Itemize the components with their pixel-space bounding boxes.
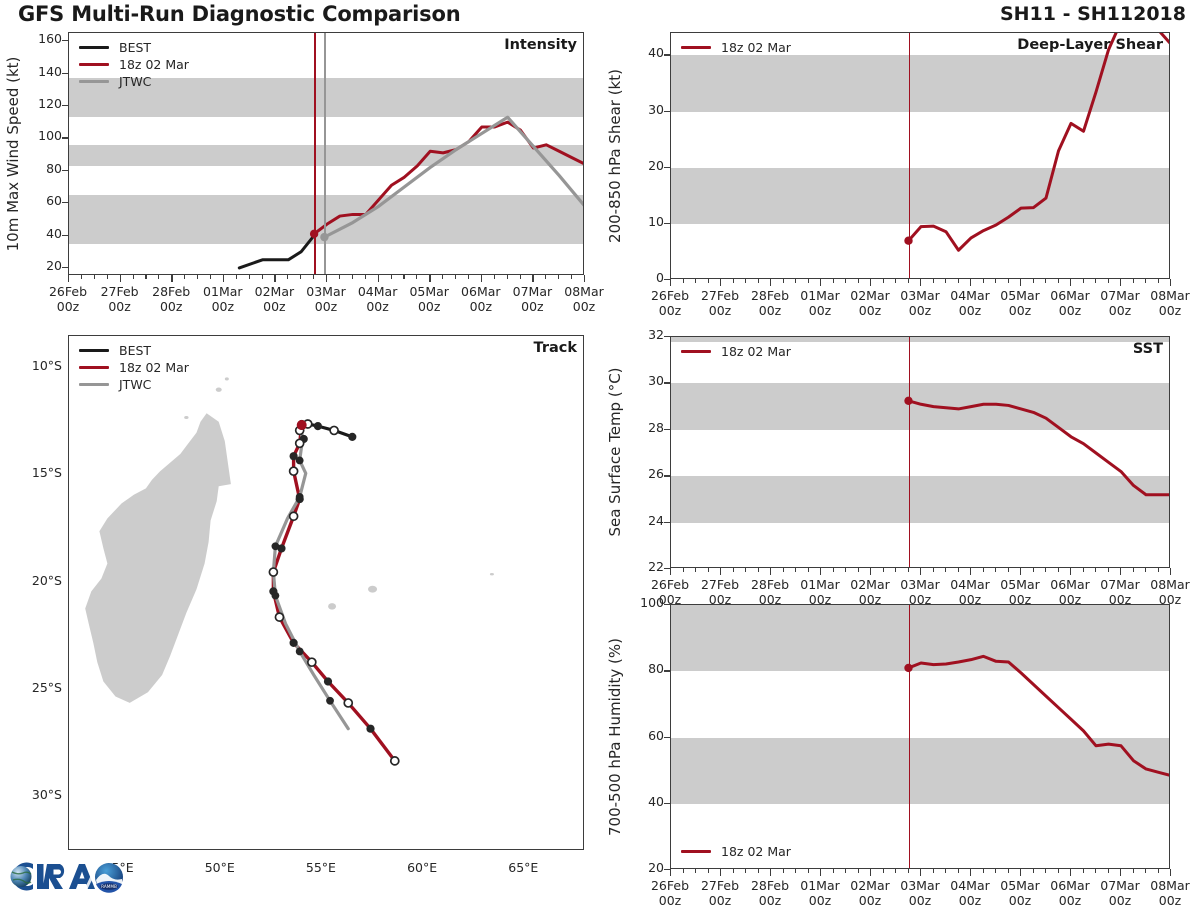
legend-label: 18z 02 Mar — [721, 40, 791, 55]
x-tick-mark — [1120, 869, 1121, 876]
x-minor-tick — [995, 279, 996, 283]
x-minor-tick — [133, 275, 134, 279]
y-tick-mark — [62, 170, 68, 171]
island-shape — [490, 573, 494, 575]
x-minor-tick — [1008, 568, 1009, 572]
track-point-00z — [324, 677, 332, 685]
lat-tick-label: 30°S — [6, 787, 62, 802]
chart-legend: 18z 02 Mar — [681, 39, 791, 56]
x-minor-tick — [416, 275, 417, 279]
y-tick-label: 20 — [26, 258, 62, 273]
x-tick-mark — [920, 869, 921, 876]
x-minor-tick — [520, 275, 521, 279]
chart-legend: BEST18z 02 MarJTWC — [79, 342, 189, 393]
y-tick-mark — [62, 40, 68, 41]
x-minor-tick — [1095, 869, 1096, 873]
track-point-jtwc — [296, 648, 304, 656]
x-tick-mark — [1070, 279, 1071, 286]
y-tick-label: 40 — [628, 794, 664, 809]
legend-color-swatch — [79, 80, 109, 84]
x-minor-tick — [883, 279, 884, 283]
x-minor-tick — [983, 279, 984, 283]
x-minor-tick — [833, 568, 834, 572]
x-tick-mark — [970, 568, 971, 575]
x-minor-tick — [300, 275, 301, 279]
track-line-jtwc — [273, 426, 348, 729]
y-tick-label: 26 — [628, 466, 664, 481]
x-minor-tick — [758, 568, 759, 572]
x-minor-tick — [745, 869, 746, 873]
cira-logo: RAMMB — [6, 856, 124, 898]
page-title: GFS Multi-Run Diagnostic Comparison — [18, 2, 460, 26]
legend-label: 18z 02 Mar — [119, 57, 189, 72]
init-time-vline — [909, 337, 911, 567]
y-tick-mark — [62, 137, 68, 138]
x-minor-tick — [1058, 568, 1059, 572]
y-tick-mark — [664, 223, 670, 224]
x-minor-tick — [708, 568, 709, 572]
x-minor-tick — [858, 869, 859, 873]
island-shape — [225, 377, 229, 380]
track-point-12z — [290, 512, 298, 520]
x-minor-tick — [933, 869, 934, 873]
track-map-plot — [69, 336, 584, 850]
x-minor-tick — [858, 568, 859, 572]
y-axis-label: 200-850 hPa Shear (kt) — [606, 69, 624, 243]
x-minor-tick — [262, 275, 263, 279]
x-tick-mark — [820, 869, 821, 876]
y-tick-label: 20 — [628, 860, 664, 875]
y-tick-label: 30 — [628, 373, 664, 388]
x-minor-tick — [883, 568, 884, 572]
x-minor-tick — [808, 279, 809, 283]
x-minor-tick — [845, 869, 846, 873]
x-tick-label: 08Mar00z — [1140, 577, 1200, 607]
x-minor-tick — [895, 869, 896, 873]
series-line-18z-02-mar — [314, 122, 584, 234]
panel-track: TrackBEST18z 02 MarJTWC — [68, 335, 584, 850]
current-position-marker — [297, 420, 307, 430]
x-minor-tick — [1158, 568, 1159, 572]
x-tick-mark — [970, 869, 971, 876]
track-point-jtwc — [272, 542, 280, 550]
y-axis-label: Sea Surface Temp (°C) — [606, 367, 624, 536]
y-axis-label: 10m Max Wind Speed (kt) — [4, 56, 22, 251]
x-tick-mark — [670, 279, 671, 286]
track-point-12z — [330, 426, 338, 434]
x-minor-tick — [1033, 568, 1034, 572]
y-tick-label: 100 — [26, 128, 62, 143]
x-minor-tick — [558, 275, 559, 279]
track-point-00z — [290, 639, 298, 647]
x-minor-tick — [833, 869, 834, 873]
y-tick-mark — [62, 267, 68, 268]
x-tick-mark — [1070, 568, 1071, 575]
x-minor-tick — [1008, 279, 1009, 283]
legend-color-swatch — [79, 63, 109, 67]
island-shape — [216, 387, 222, 391]
x-tick-mark — [720, 279, 721, 286]
y-tick-label: 32 — [628, 327, 664, 342]
x-minor-tick — [352, 275, 353, 279]
x-minor-tick — [184, 275, 185, 279]
track-point-jtwc — [326, 697, 334, 705]
svg-text:RAMMB: RAMMB — [101, 884, 117, 889]
x-minor-tick — [1145, 568, 1146, 572]
x-minor-tick — [1083, 568, 1084, 572]
x-tick-mark — [378, 275, 379, 282]
x-minor-tick — [945, 279, 946, 283]
x-minor-tick — [81, 275, 82, 279]
x-minor-tick — [94, 275, 95, 279]
x-minor-tick — [733, 568, 734, 572]
x-tick-mark — [1170, 568, 1171, 575]
y-tick-label: 22 — [628, 559, 664, 574]
legend-color-swatch — [79, 349, 109, 353]
x-minor-tick — [455, 275, 456, 279]
legend-label: JTWC — [119, 74, 151, 89]
x-minor-tick — [983, 568, 984, 572]
x-tick-mark — [171, 275, 172, 282]
series-line-18z-02-mar — [909, 656, 1171, 775]
track-point-12z — [391, 757, 399, 765]
x-minor-tick — [1058, 869, 1059, 873]
init-time-vline — [314, 33, 316, 274]
x-minor-tick — [795, 279, 796, 283]
x-minor-tick — [783, 279, 784, 283]
series-line-18z-02-mar — [909, 401, 1171, 495]
y-tick-label: 140 — [26, 64, 62, 79]
island-shape — [368, 586, 377, 593]
jtwc-time-vline — [324, 33, 326, 274]
chart-legend: 18z 02 Mar — [681, 343, 791, 360]
track-point-jtwc — [272, 592, 280, 600]
legend-item: 18z 02 Mar — [79, 56, 189, 73]
x-tick-mark — [1020, 279, 1021, 286]
y-tick-mark — [664, 803, 670, 804]
x-minor-tick — [1083, 869, 1084, 873]
x-tick-mark — [120, 275, 121, 282]
lon-tick-label: 65°E — [489, 860, 557, 875]
x-tick-mark — [670, 568, 671, 575]
x-minor-tick — [708, 869, 709, 873]
x-minor-tick — [833, 279, 834, 283]
x-tick-mark — [1170, 869, 1171, 876]
x-minor-tick — [995, 568, 996, 572]
x-minor-tick — [1033, 279, 1034, 283]
x-minor-tick — [158, 275, 159, 279]
series-plot — [671, 605, 1170, 869]
x-minor-tick — [1095, 279, 1096, 283]
y-tick-mark — [664, 54, 670, 55]
x-minor-tick — [107, 275, 108, 279]
x-minor-tick — [1108, 568, 1109, 572]
x-minor-tick — [442, 275, 443, 279]
x-tick-mark — [1170, 279, 1171, 286]
y-tick-label: 24 — [628, 513, 664, 528]
x-minor-tick — [145, 275, 146, 279]
legend-item: BEST — [79, 342, 189, 359]
init-time-vline — [909, 33, 911, 278]
init-time-vline — [909, 605, 911, 868]
lat-tick-label: 20°S — [6, 573, 62, 588]
y-tick-label: 40 — [628, 45, 664, 60]
madagascar-landmass — [85, 413, 231, 703]
x-tick-label: 08Mar00z — [1140, 288, 1200, 318]
lon-tick-label: 55°E — [287, 860, 355, 875]
x-minor-tick — [1133, 279, 1134, 283]
x-minor-tick — [1108, 869, 1109, 873]
x-minor-tick — [745, 568, 746, 572]
x-minor-tick — [1008, 869, 1009, 873]
x-minor-tick — [908, 279, 909, 283]
y-tick-label: 120 — [26, 96, 62, 111]
x-minor-tick — [808, 568, 809, 572]
y-tick-mark — [664, 670, 670, 671]
x-minor-tick — [339, 275, 340, 279]
y-tick-label: 20 — [628, 158, 664, 173]
y-tick-label: 160 — [26, 31, 62, 46]
y-tick-mark — [664, 167, 670, 168]
y-tick-label: 40 — [26, 226, 62, 241]
y-tick-mark — [664, 604, 670, 605]
track-point-12z — [275, 613, 283, 621]
x-minor-tick — [683, 279, 684, 283]
y-tick-mark — [664, 475, 670, 476]
x-minor-tick — [695, 279, 696, 283]
x-minor-tick — [933, 568, 934, 572]
x-tick-mark — [223, 275, 224, 282]
legend-item: 18z 02 Mar — [79, 359, 189, 376]
y-tick-label: 60 — [26, 193, 62, 208]
x-minor-tick — [210, 275, 211, 279]
legend-label: 18z 02 Mar — [721, 344, 791, 359]
y-tick-label: 28 — [628, 420, 664, 435]
x-minor-tick — [391, 275, 392, 279]
x-minor-tick — [695, 568, 696, 572]
storm-id-title: SH11 - SH112018 — [1000, 3, 1186, 25]
x-tick-mark — [481, 275, 482, 282]
x-tick-label: 08Mar00z — [1140, 878, 1200, 908]
x-minor-tick — [1083, 279, 1084, 283]
chart-legend: 18z 02 Mar — [681, 843, 791, 860]
lon-tick-label: 60°E — [388, 860, 456, 875]
x-minor-tick — [1095, 568, 1096, 572]
legend-item: 18z 02 Mar — [681, 343, 791, 360]
legend-color-swatch — [79, 366, 109, 370]
x-minor-tick — [908, 568, 909, 572]
x-minor-tick — [958, 869, 959, 873]
x-minor-tick — [958, 279, 959, 283]
x-minor-tick — [468, 275, 469, 279]
track-point-jtwc — [296, 493, 304, 501]
x-minor-tick — [758, 869, 759, 873]
x-minor-tick — [197, 275, 198, 279]
y-tick-label: 10 — [628, 214, 664, 229]
series-line-best — [239, 236, 314, 268]
x-tick-mark — [1070, 869, 1071, 876]
legend-label: 18z 02 Mar — [721, 844, 791, 859]
x-minor-tick — [933, 279, 934, 283]
chart-legend: BEST18z 02 MarJTWC — [79, 39, 189, 90]
x-minor-tick — [945, 869, 946, 873]
y-tick-label: 80 — [26, 161, 62, 176]
x-minor-tick — [795, 568, 796, 572]
x-tick-mark — [1120, 568, 1121, 575]
lat-tick-label: 15°S — [6, 465, 62, 480]
x-minor-tick — [958, 568, 959, 572]
x-minor-tick — [365, 275, 366, 279]
legend-color-swatch — [79, 46, 109, 50]
series-plot — [671, 33, 1170, 279]
lon-tick-label: 50°E — [186, 860, 254, 875]
panel-intensity: IntensityBEST18z 02 MarJTWC — [68, 32, 584, 275]
x-tick-mark — [429, 275, 430, 282]
y-tick-mark — [62, 73, 68, 74]
x-tick-mark — [1120, 279, 1121, 286]
legend-color-swatch — [681, 850, 711, 854]
x-tick-label: 08Mar00z — [554, 284, 614, 314]
x-minor-tick — [795, 869, 796, 873]
y-tick-label: 60 — [628, 728, 664, 743]
x-tick-mark — [820, 568, 821, 575]
track-point-12z — [344, 699, 352, 707]
y-tick-mark — [664, 111, 670, 112]
x-tick-mark — [1020, 869, 1021, 876]
x-tick-mark — [770, 568, 771, 575]
x-minor-tick — [883, 869, 884, 873]
legend-color-swatch — [681, 46, 711, 50]
x-tick-mark — [870, 568, 871, 575]
track-point-jtwc — [296, 457, 304, 465]
series-plot — [671, 337, 1170, 568]
y-tick-mark — [664, 429, 670, 430]
track-point-12z — [269, 568, 277, 576]
legend-color-swatch — [681, 350, 711, 354]
x-tick-mark — [532, 275, 533, 282]
x-minor-tick — [758, 279, 759, 283]
y-tick-label: 30 — [628, 102, 664, 117]
island-shape — [184, 416, 188, 419]
y-tick-label: 80 — [628, 661, 664, 676]
x-minor-tick — [494, 275, 495, 279]
x-tick-mark — [970, 279, 971, 286]
y-axis-label: 700-500 hPa Humidity (%) — [606, 637, 624, 835]
x-tick-mark — [870, 279, 871, 286]
x-minor-tick — [571, 275, 572, 279]
y-tick-label: 100 — [628, 595, 664, 610]
x-minor-tick — [858, 279, 859, 283]
legend-item: 18z 02 Mar — [681, 843, 791, 860]
x-minor-tick — [733, 279, 734, 283]
y-tick-mark — [62, 235, 68, 236]
x-minor-tick — [845, 568, 846, 572]
x-tick-mark — [820, 279, 821, 286]
x-tick-mark — [274, 275, 275, 282]
track-point-00z — [366, 725, 374, 733]
x-tick-mark — [870, 869, 871, 876]
x-minor-tick — [1133, 568, 1134, 572]
x-minor-tick — [895, 568, 896, 572]
y-tick-mark — [664, 737, 670, 738]
x-minor-tick — [745, 279, 746, 283]
legend-label: JTWC — [119, 377, 151, 392]
track-point-12z — [290, 467, 298, 475]
x-tick-mark — [326, 275, 327, 282]
lat-tick-label: 10°S — [6, 358, 62, 373]
x-tick-mark — [770, 869, 771, 876]
x-tick-mark — [68, 275, 69, 282]
x-minor-tick — [403, 275, 404, 279]
x-minor-tick — [507, 275, 508, 279]
legend-label: BEST — [119, 40, 151, 55]
x-minor-tick — [808, 869, 809, 873]
track-point-12z — [296, 439, 304, 447]
x-minor-tick — [313, 275, 314, 279]
legend-item: BEST — [79, 39, 189, 56]
x-minor-tick — [1045, 568, 1046, 572]
x-minor-tick — [783, 568, 784, 572]
legend-item: JTWC — [79, 73, 189, 90]
legend-label: 18z 02 Mar — [119, 360, 189, 375]
island-shape — [328, 603, 336, 609]
x-minor-tick — [783, 869, 784, 873]
x-tick-mark — [1020, 568, 1021, 575]
track-point-12z — [308, 658, 316, 666]
x-minor-tick — [1045, 869, 1046, 873]
legend-label: BEST — [119, 343, 151, 358]
panel-sst: SST18z 02 Mar — [670, 336, 1170, 568]
x-minor-tick — [683, 869, 684, 873]
x-tick-mark — [584, 275, 585, 282]
track-point-00z — [314, 422, 322, 430]
x-tick-mark — [720, 568, 721, 575]
x-tick-mark — [770, 279, 771, 286]
x-minor-tick — [287, 275, 288, 279]
legend-color-swatch — [79, 383, 109, 387]
x-minor-tick — [1045, 279, 1046, 283]
x-minor-tick — [1145, 279, 1146, 283]
x-minor-tick — [895, 279, 896, 283]
y-tick-mark — [664, 336, 670, 337]
y-tick-label: 0 — [628, 270, 664, 285]
x-minor-tick — [1108, 279, 1109, 283]
lat-tick-label: 25°S — [6, 680, 62, 695]
x-tick-mark — [670, 869, 671, 876]
x-tick-mark — [720, 869, 721, 876]
y-tick-mark — [664, 382, 670, 383]
x-minor-tick — [845, 279, 846, 283]
x-minor-tick — [249, 275, 250, 279]
series-line-jtwc — [324, 117, 584, 237]
legend-item: JTWC — [79, 376, 189, 393]
legend-item: 18z 02 Mar — [681, 39, 791, 56]
y-tick-mark — [664, 522, 670, 523]
x-minor-tick — [708, 279, 709, 283]
x-minor-tick — [945, 568, 946, 572]
panel-rh: Mid-Level RH18z 02 Mar — [670, 604, 1170, 869]
x-minor-tick — [908, 869, 909, 873]
x-minor-tick — [733, 869, 734, 873]
x-tick-mark — [920, 568, 921, 575]
track-point-00z — [348, 433, 356, 441]
x-minor-tick — [1145, 869, 1146, 873]
x-minor-tick — [1058, 279, 1059, 283]
panel-shear: Deep-Layer Shear18z 02 Mar — [670, 32, 1170, 279]
x-minor-tick — [695, 869, 696, 873]
x-minor-tick — [1158, 279, 1159, 283]
x-tick-mark — [920, 279, 921, 286]
